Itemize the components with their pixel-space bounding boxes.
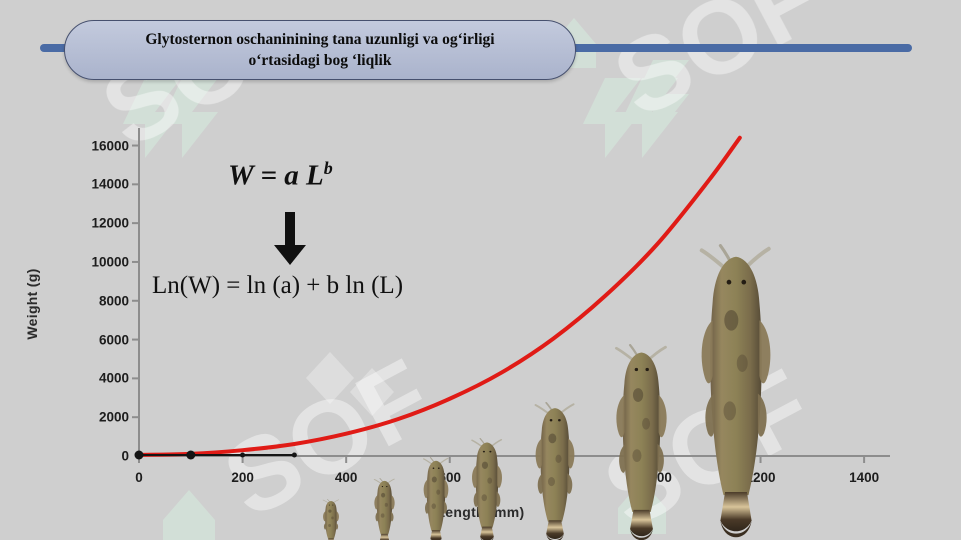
fish-specimen-2 — [373, 478, 396, 540]
power-law-formula: W = a Lb — [228, 158, 333, 193]
page-title-line2: o‘rtasidagi bog ‘liqlik — [249, 52, 392, 69]
down-arrow-icon — [272, 212, 308, 271]
slide-canvas: SOF SOF SO SOF Glytosternon oschanininin… — [0, 0, 961, 540]
power-law-exponent: b — [324, 158, 333, 178]
down-arrow-svg — [272, 212, 308, 266]
page-title: Glytosternon oschaninining tana uzunligi… — [127, 29, 512, 71]
slide-title-box: Glytosternon oschaninining tana uzunligi… — [64, 20, 576, 80]
fish-specimen-7 — [697, 244, 775, 540]
fish-specimen-4 — [470, 438, 504, 540]
fish-specimen-1 — [322, 499, 340, 540]
chart-container: Weight (g) Length (mm) 02000400060008000… — [0, 86, 961, 540]
fish-specimen-3 — [422, 457, 450, 540]
log-form-formula: Ln(W) = ln (a) + b ln (L) — [152, 272, 403, 300]
fish-specimen-5 — [533, 402, 577, 540]
power-law-base: W = a L — [228, 160, 324, 192]
page-title-line1: Glytosternon oschaninining tana uzunligi… — [145, 31, 494, 48]
fish-specimen-6 — [613, 344, 670, 540]
